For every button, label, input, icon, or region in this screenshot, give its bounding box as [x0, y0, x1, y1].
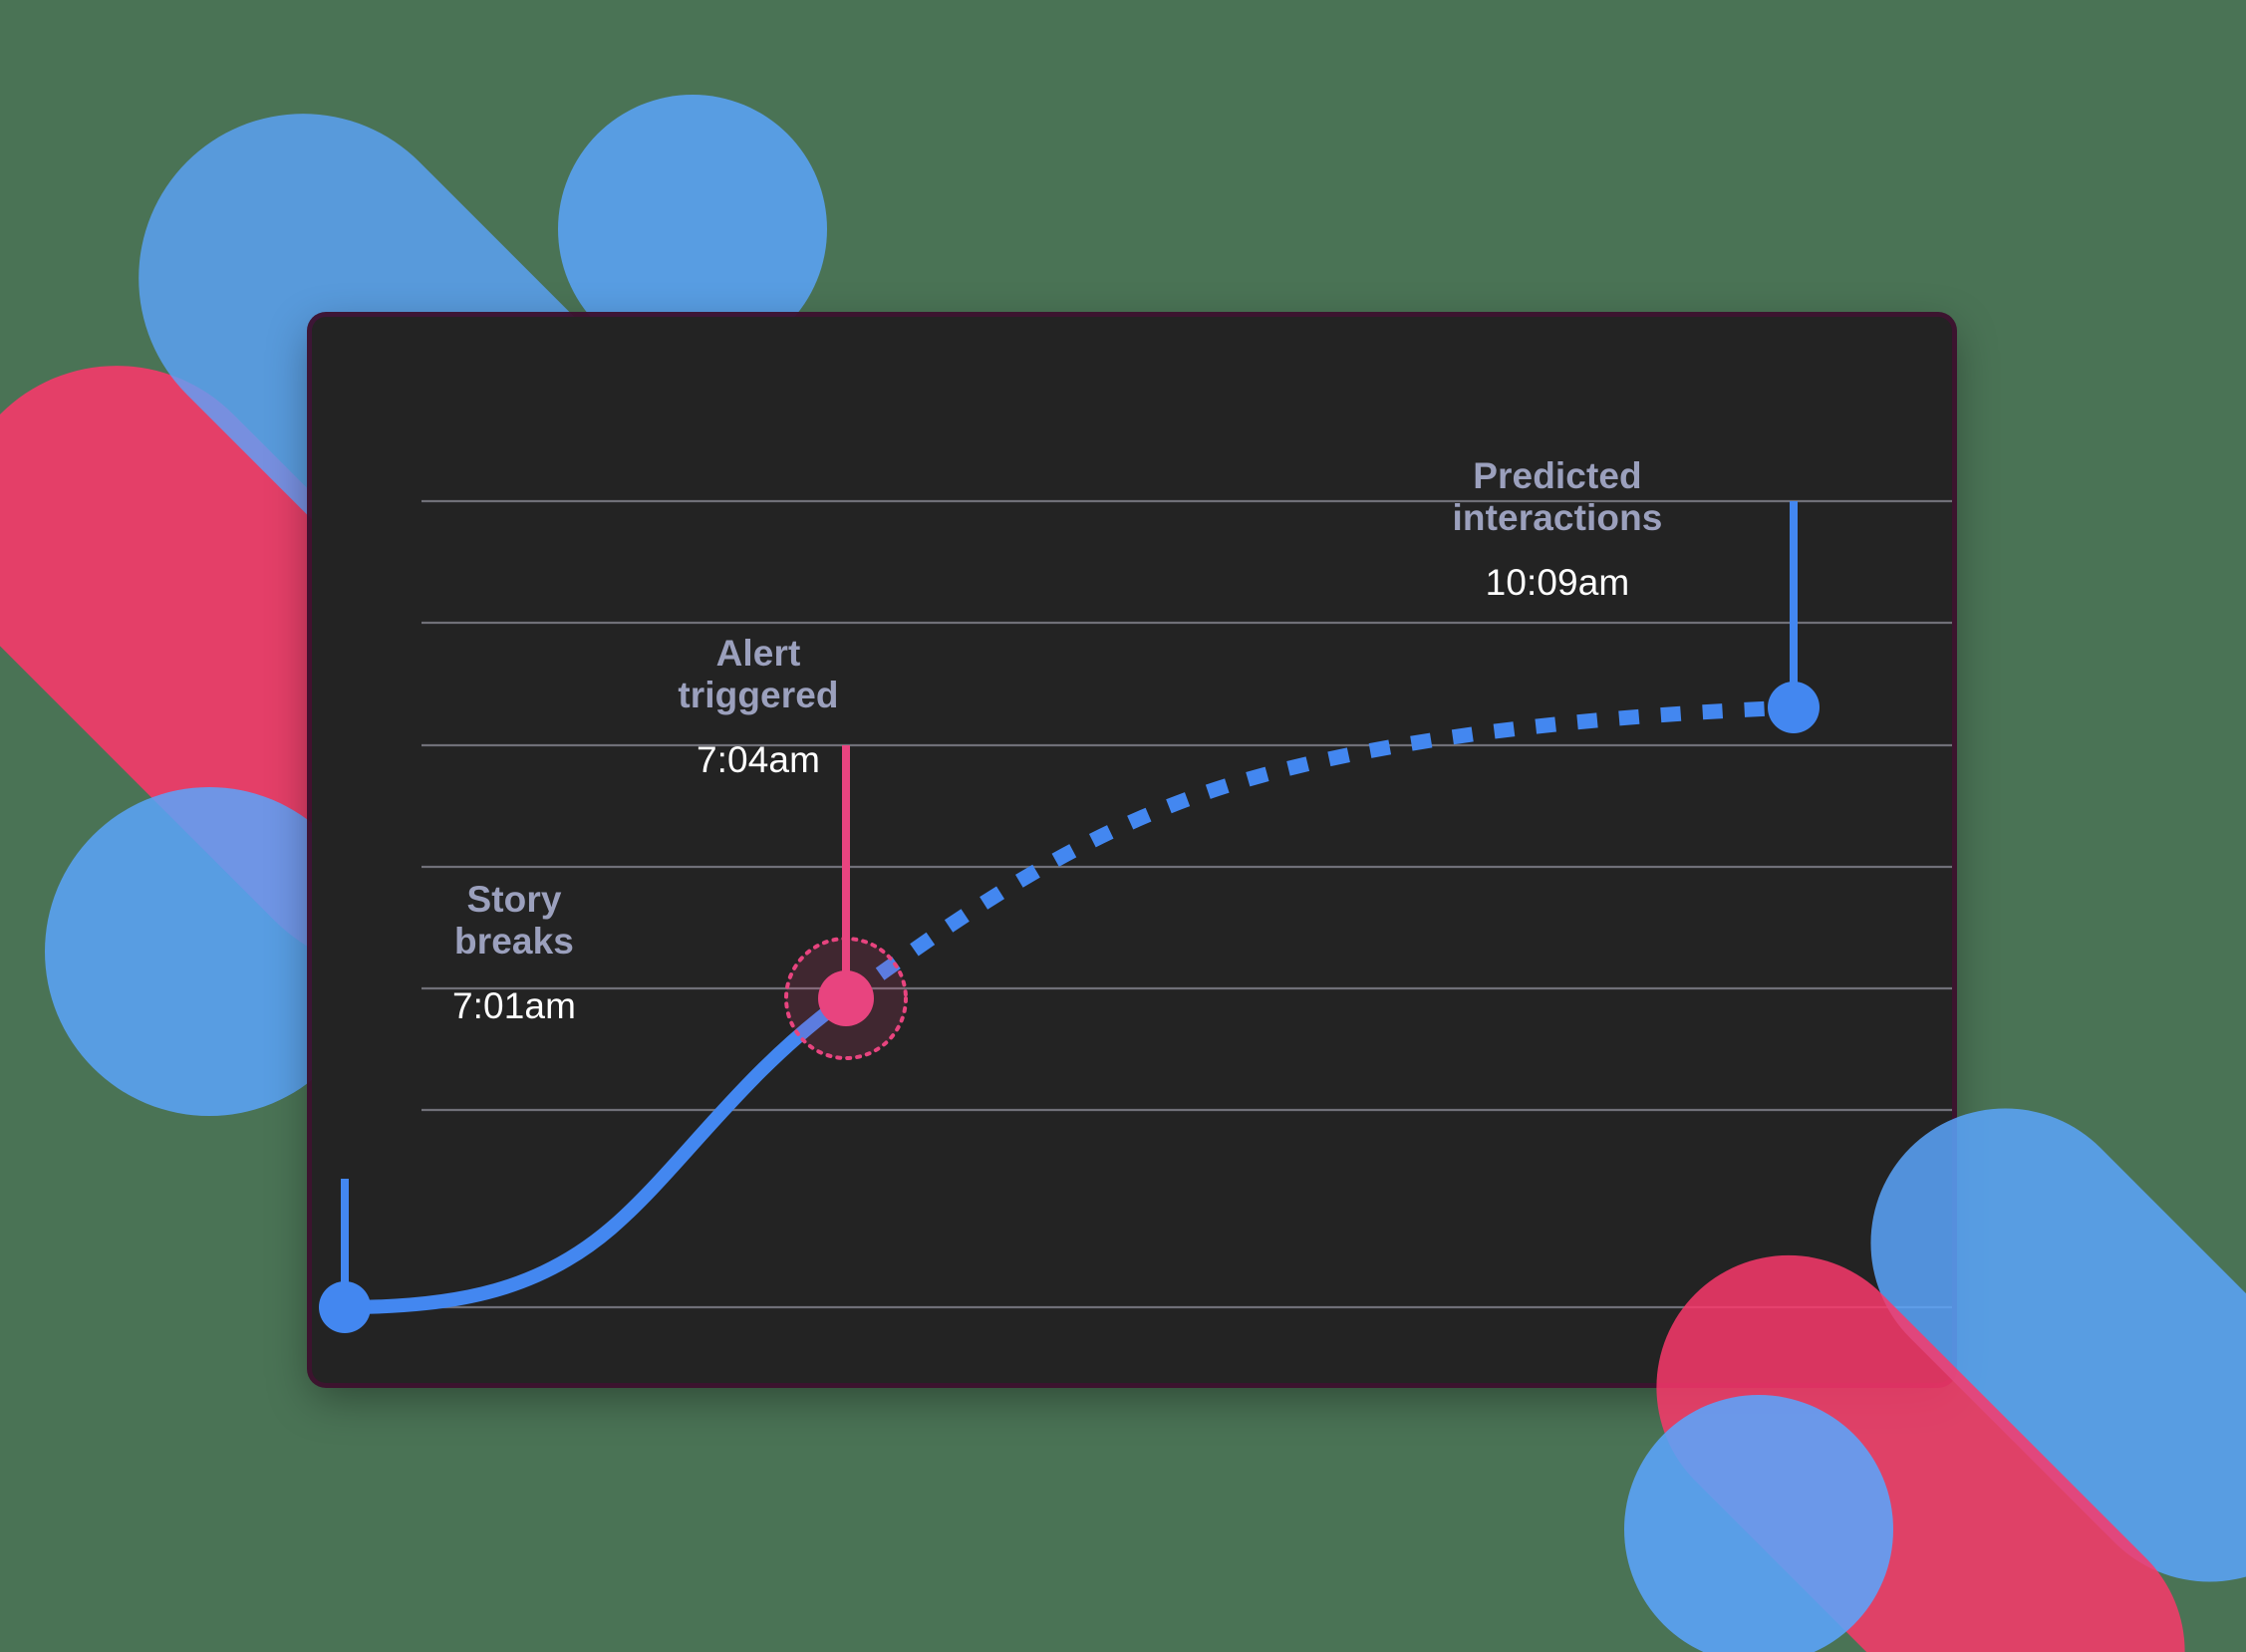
story-breaks-marker[interactable]	[319, 1281, 371, 1333]
canvas: Story breaks 7:01am Alert triggered 7:04…	[0, 0, 2246, 1652]
alert-triggered-marker[interactable]	[818, 970, 874, 1026]
chart-card: Story breaks 7:01am Alert triggered 7:04…	[312, 317, 1952, 1383]
blob-bottom-right-blue-circle	[1624, 1395, 1893, 1652]
chart-plot-area	[312, 317, 1952, 1383]
series-observed-line	[345, 998, 846, 1307]
chart-svg	[312, 317, 1952, 1383]
series-predicted-line	[846, 707, 1794, 998]
predicted-interactions-marker[interactable]	[1768, 682, 1820, 733]
